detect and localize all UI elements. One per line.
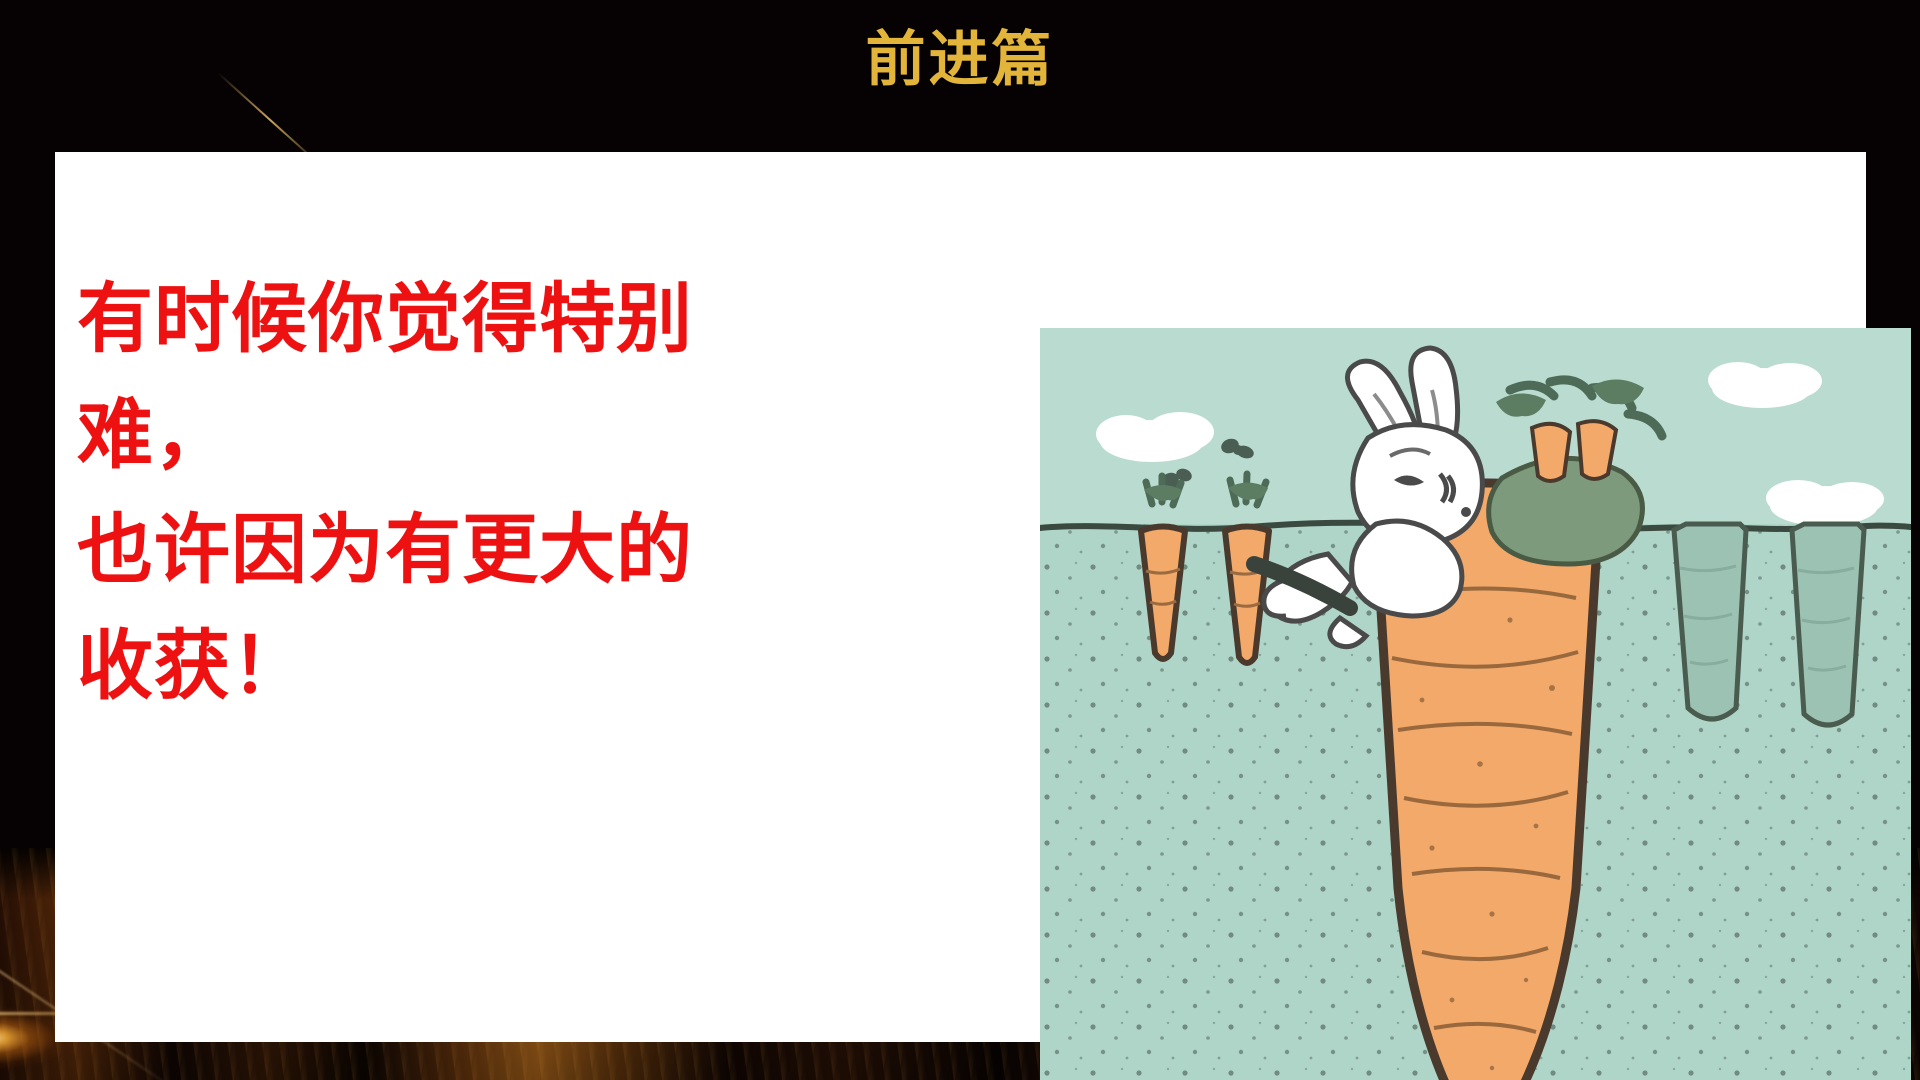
empty-hole-1 [1674,524,1746,719]
empty-hole-2 [1792,524,1864,725]
quote-line-3: 也许因为有更大的 [77,493,937,609]
content-card: 有时候你觉得特别 难， 也许因为有更大的 收获！ [55,152,1866,1042]
illustration-rabbit-giant-carrot [1040,328,1911,1080]
quote-line-2: 难， [77,378,937,494]
quote-line-4: 收获！ [77,609,937,725]
page-title: 前进篇 [0,28,1920,91]
quote-text-block: 有时候你觉得特别 难， 也许因为有更大的 收获！ [77,262,937,724]
quote-line-1: 有时候你觉得特别 [77,262,937,378]
